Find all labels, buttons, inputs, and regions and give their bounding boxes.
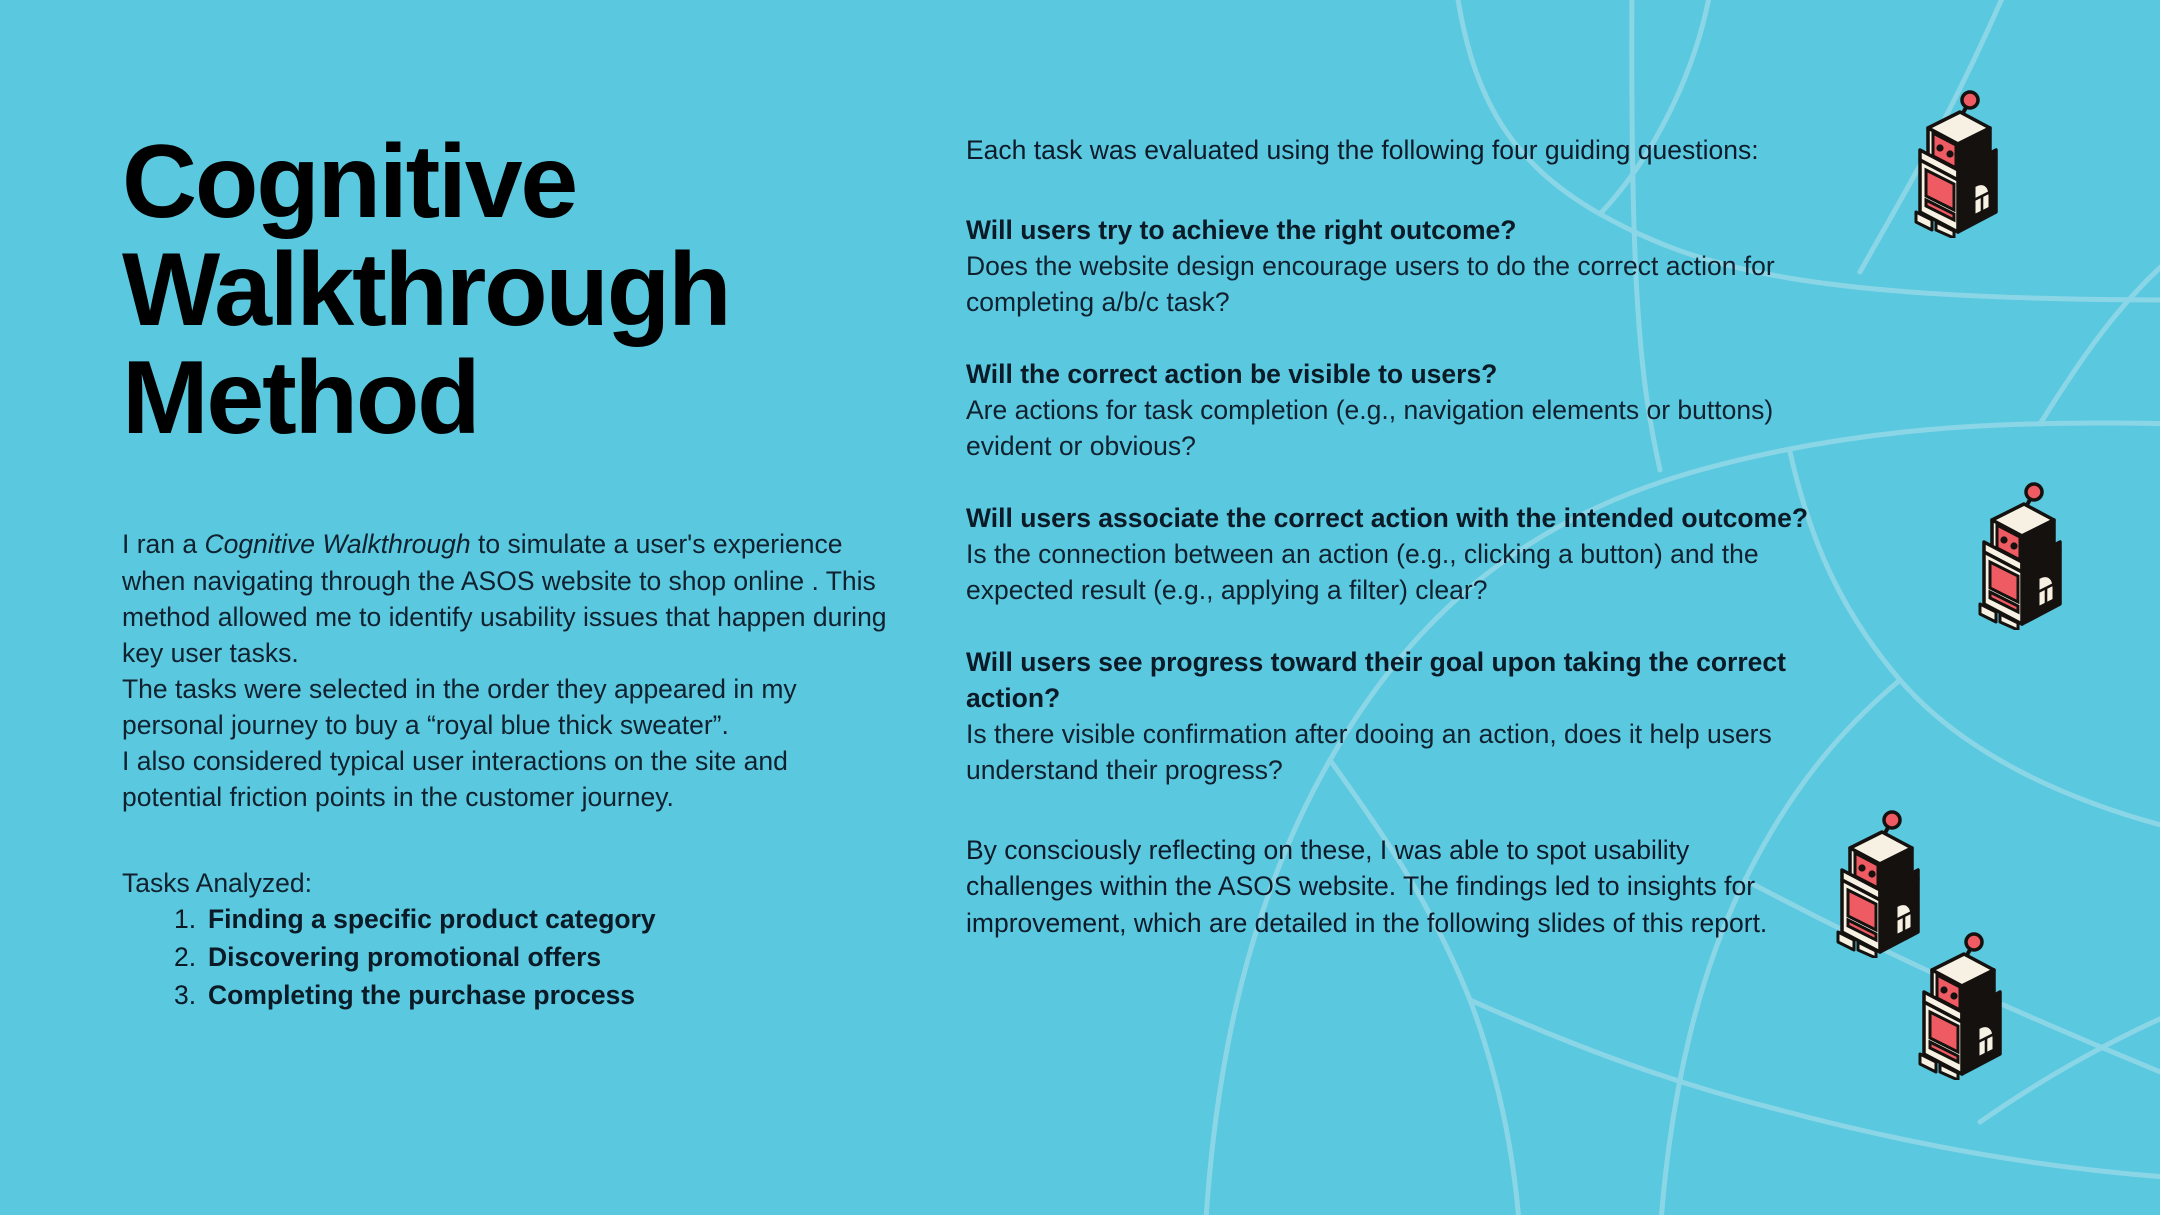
guiding-question-1: Will users try to achieve the right outc… (966, 212, 1810, 320)
left-column: Cognitive Walkthrough Method I ran a Cog… (0, 0, 930, 1215)
intro-paragraph-line-1: I ran a Cognitive Walkthrough to simulat… (122, 526, 890, 670)
cognitive-walkthrough-emphasis: Cognitive Walkthrough (205, 529, 471, 559)
guiding-question-2: Will the correct action be visible to us… (966, 356, 1810, 464)
question-text: Will users try to achieve the right outc… (966, 212, 1810, 248)
guiding-question-4: Will users see progress toward their goa… (966, 644, 1810, 788)
list-item: Discovering promotional offers (174, 939, 890, 977)
list-item: Completing the purchase process (174, 977, 890, 1015)
guiding-questions-intro: Each task was evaluated using the follow… (966, 132, 1810, 168)
intro-paragraph-line-3: I also considered typical user interacti… (122, 743, 890, 815)
answer-text: Are actions for task completion (e.g., n… (966, 392, 1810, 464)
retro-robot-icon (1902, 930, 2022, 1080)
slide-canvas: Cognitive Walkthrough Method I ran a Cog… (0, 0, 2160, 1215)
answer-text: Is the connection between an action (e.g… (966, 536, 1810, 608)
question-text: Will users see progress toward their goa… (966, 644, 1810, 716)
tasks-analyzed-list: Finding a specific product category Disc… (174, 901, 890, 1015)
guiding-question-3: Will users associate the correct action … (966, 500, 1810, 608)
answer-text: Is there visible confirmation after dooi… (966, 716, 1810, 788)
retro-robot-icon (1962, 480, 2082, 630)
retro-robot-icon (1898, 88, 2018, 238)
intro-paragraph-line-2: The tasks were selected in the order the… (122, 671, 890, 743)
intro-paragraph-block: I ran a Cognitive Walkthrough to simulat… (122, 526, 890, 814)
tasks-analyzed-label: Tasks Analyzed: (122, 865, 890, 901)
list-item: Finding a specific product category (174, 901, 890, 939)
page-title: Cognitive Walkthrough Method (122, 128, 890, 452)
question-text: Will users associate the correct action … (966, 500, 1810, 536)
answer-text: Does the website design encourage users … (966, 248, 1810, 320)
intro-text-before-italic: I ran a (122, 529, 205, 559)
right-column: Each task was evaluated using the follow… (930, 0, 1810, 1215)
conclusion-paragraph: By consciously reflecting on these, I wa… (966, 832, 1810, 940)
question-text: Will the correct action be visible to us… (966, 356, 1810, 392)
